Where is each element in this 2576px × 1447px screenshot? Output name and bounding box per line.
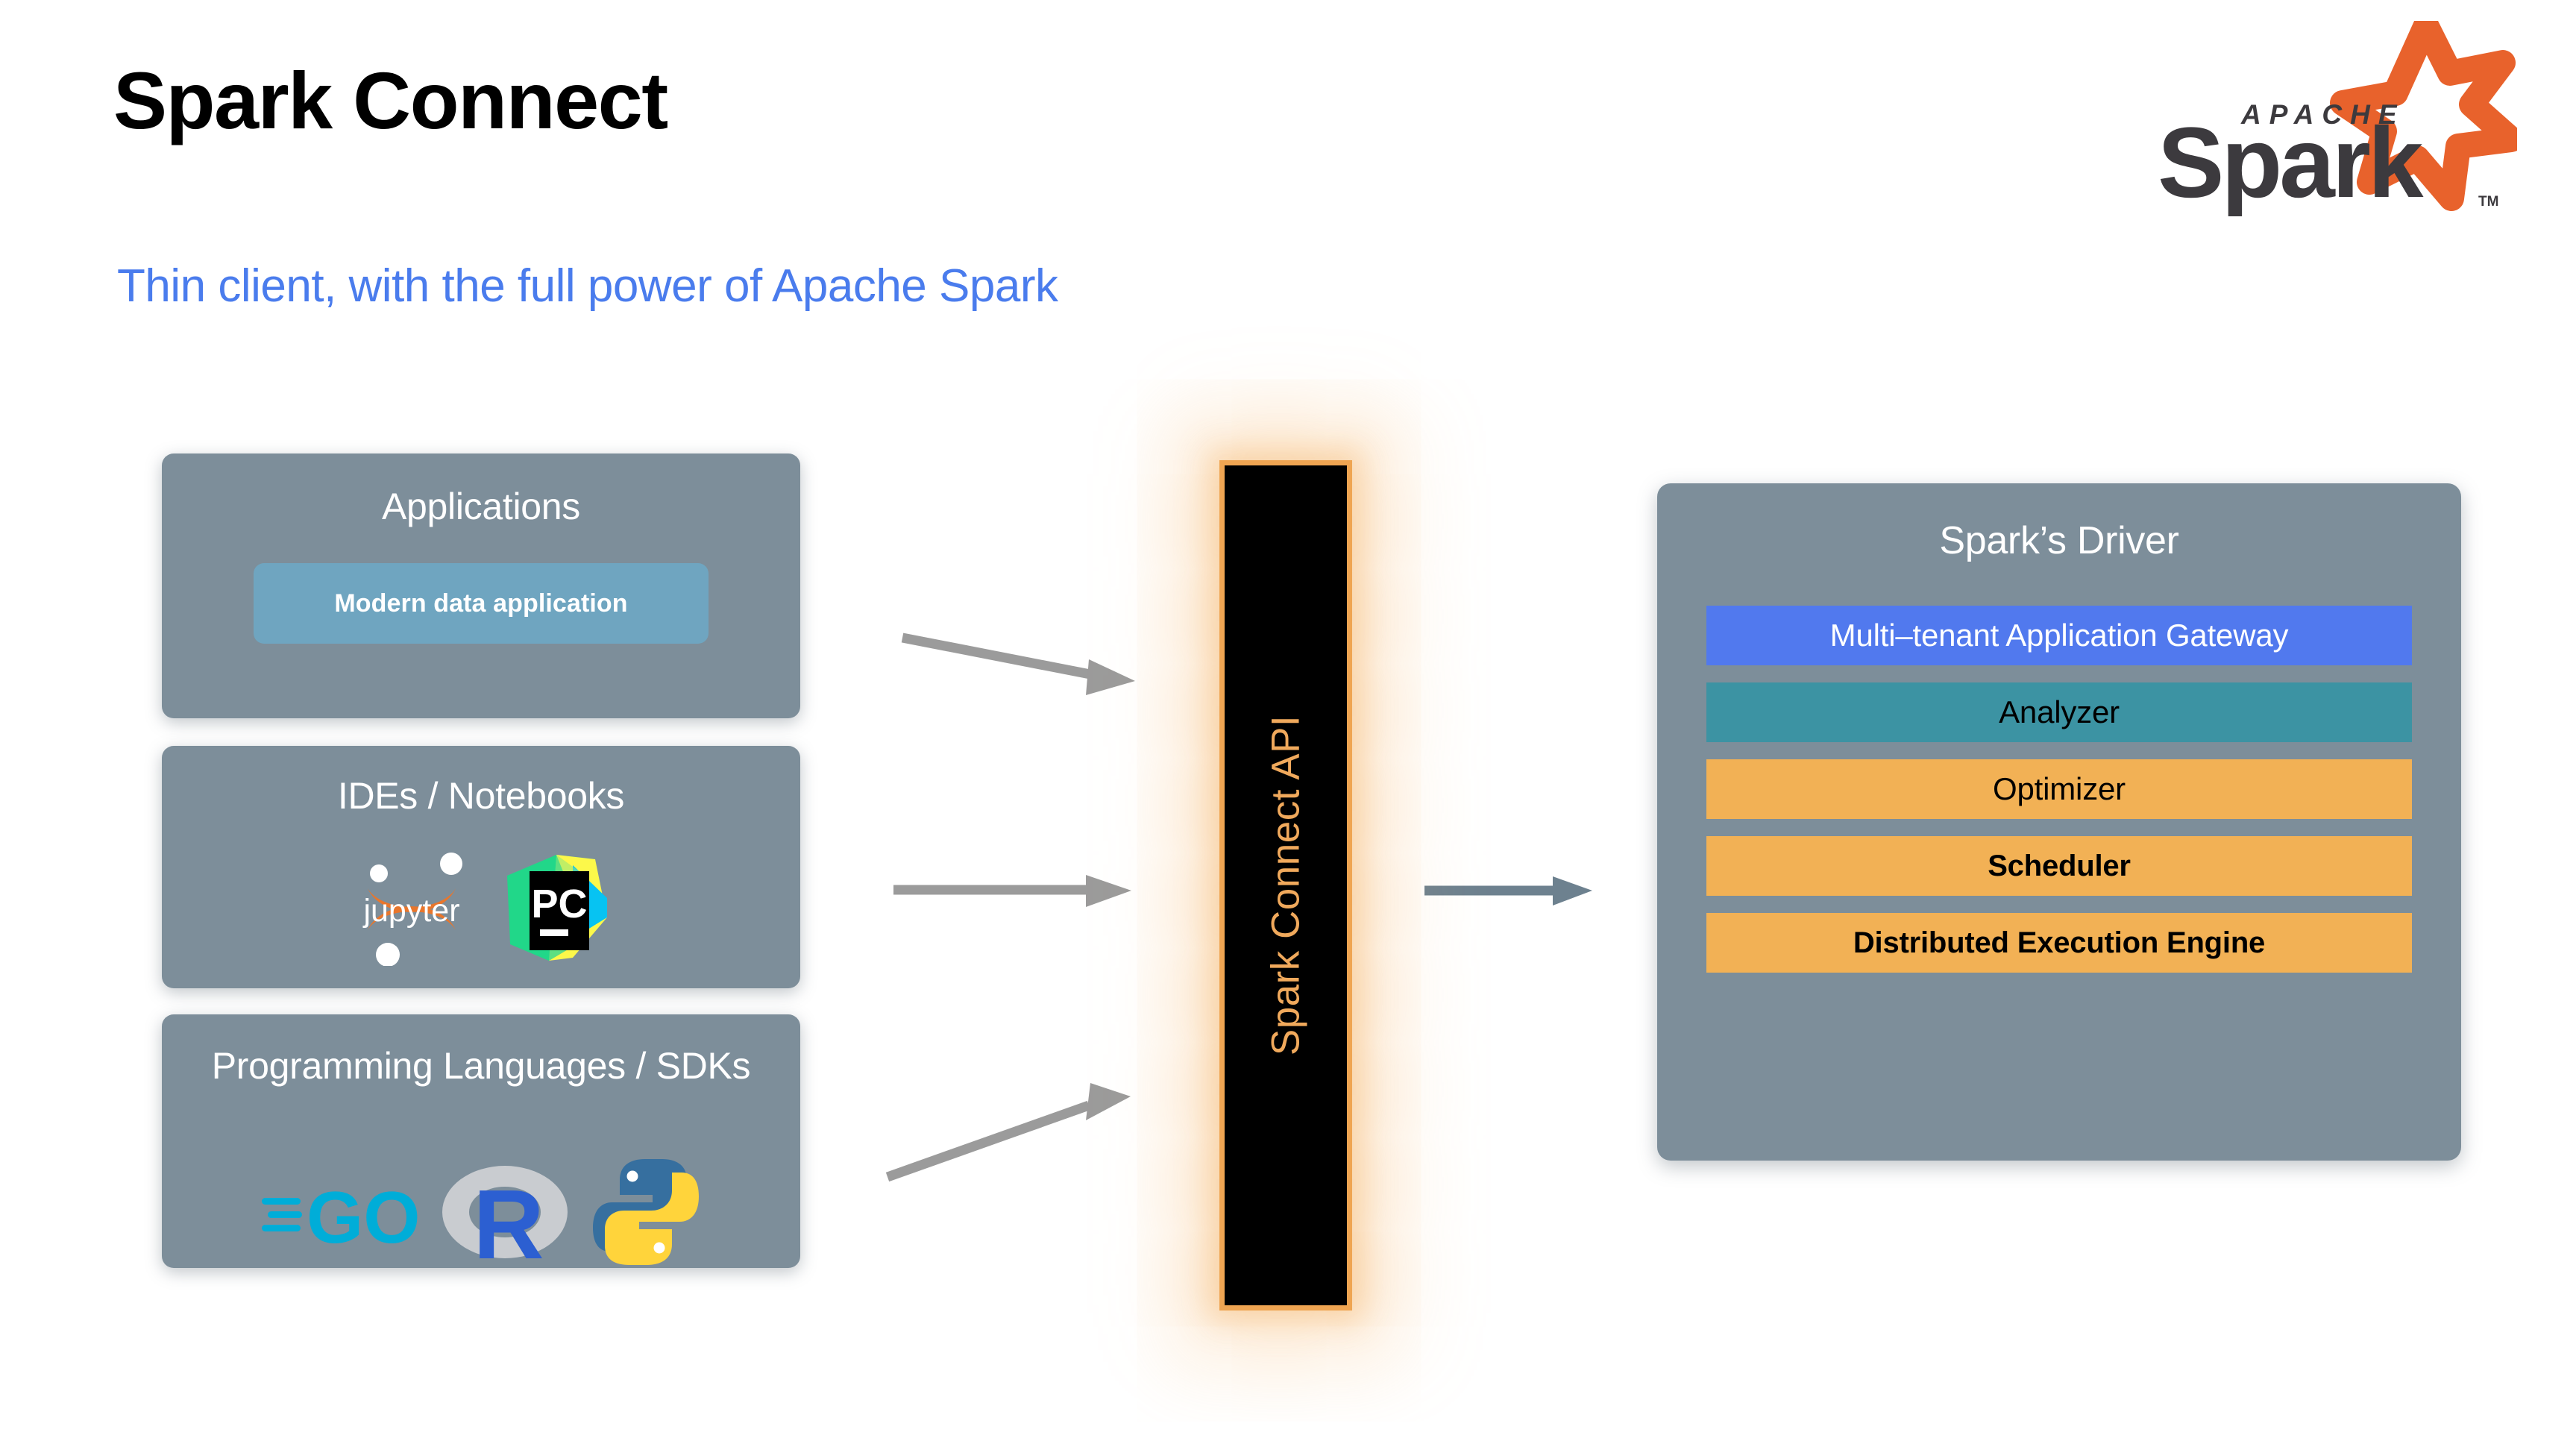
arrow-languages-to-api: [888, 1083, 1131, 1177]
driver-component-list: Multi–tenant Application Gateway Analyze…: [1706, 606, 2412, 990]
slide-canvas: Spark Connect Thin client, with the full…: [0, 0, 2576, 1447]
client-box-programming-languages[interactable]: Programming Languages / SDKs GO R: [162, 1014, 800, 1268]
driver-row-multi-tenant-application-gateway[interactable]: Multi–tenant Application Gateway: [1706, 606, 2412, 665]
spark-connect-api-bar[interactable]: Spark Connect API: [1219, 460, 1352, 1311]
driver-row-label: Scheduler: [1988, 850, 2131, 883]
client-box-ides-notebooks[interactable]: IDEs / Notebooks jupyter: [162, 746, 800, 988]
client-box-title: Programming Languages / SDKs: [162, 1044, 800, 1088]
sparks-driver-title: Spark’s Driver: [1657, 518, 2461, 563]
page-subtitle: Thin client, with the full power of Apac…: [117, 261, 1058, 312]
pycharm-label: PC: [531, 882, 587, 926]
apache-spark-logo: APACHE Spark TM: [2129, 21, 2517, 216]
r-language-logo: R: [440, 1152, 571, 1272]
arrow-applications-to-api: [902, 638, 1135, 695]
driver-row-optimizer[interactable]: Optimizer: [1706, 759, 2412, 819]
pycharm-logo: PC: [501, 849, 613, 964]
golang-label: GO: [307, 1176, 420, 1255]
driver-row-label: Analyzer: [1999, 694, 2120, 730]
python-logo: [590, 1156, 702, 1268]
jupyter-logo: jupyter: [349, 847, 476, 966]
driver-row-label: Optimizer: [1993, 771, 2126, 807]
client-box-title: Applications: [162, 485, 800, 529]
ide-logo-row: jupyter PC: [162, 847, 800, 966]
spark-connect-api-label: Spark Connect API: [1263, 715, 1309, 1055]
arrow-api-to-driver: [1424, 876, 1592, 905]
arrow-ides-to-api: [893, 875, 1131, 907]
logo-spark-text: Spark: [2158, 107, 2424, 216]
driver-row-scheduler[interactable]: Scheduler: [1706, 836, 2412, 896]
logo-trademark-text: TM: [2478, 194, 2498, 210]
jupyter-label: jupyter: [362, 893, 459, 929]
driver-row-label: Distributed Execution Engine: [1853, 926, 2265, 960]
modern-data-application-label: Modern data application: [334, 589, 627, 618]
driver-row-distributed-execution-engine[interactable]: Distributed Execution Engine: [1706, 913, 2412, 973]
client-box-applications[interactable]: Applications Modern data application: [162, 453, 800, 718]
golang-logo: GO: [260, 1170, 421, 1255]
driver-row-analyzer[interactable]: Analyzer: [1706, 682, 2412, 742]
r-language-label: R: [473, 1170, 544, 1272]
driver-row-label: Multi–tenant Application Gateway: [1830, 618, 2289, 653]
sparks-driver-box[interactable]: Spark’s Driver Multi–tenant Application …: [1657, 483, 2461, 1161]
page-title: Spark Connect: [113, 58, 667, 142]
modern-data-application-pill[interactable]: Modern data application: [254, 563, 709, 644]
client-box-title: IDEs / Notebooks: [162, 774, 800, 818]
language-logo-row: GO R: [162, 1152, 800, 1272]
